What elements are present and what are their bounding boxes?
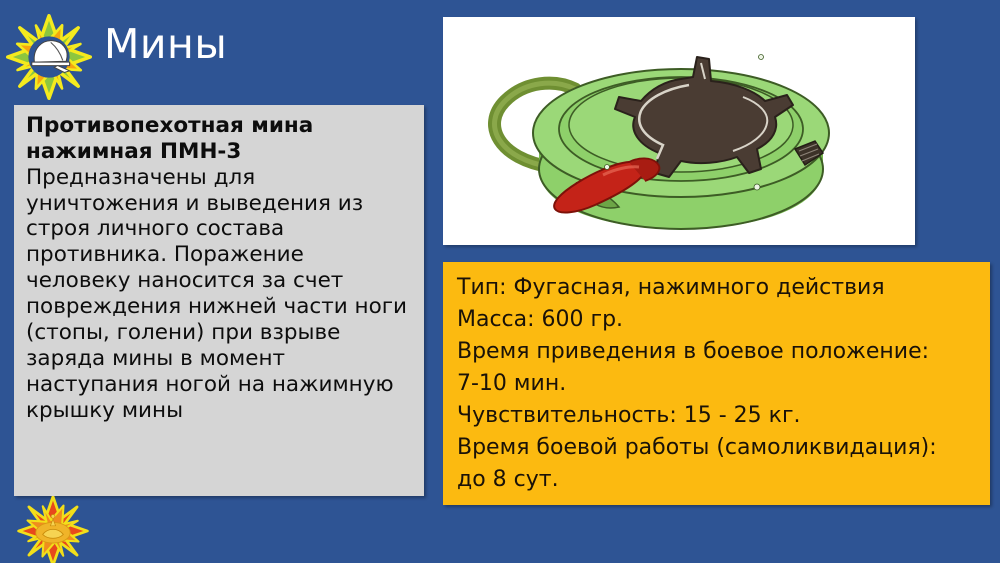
mine-pmn-3-illustration <box>443 17 915 245</box>
spec-line: Время приведения в боевое положение: <box>457 336 978 368</box>
slide-root: Мины Противопехотная мина нажимная ПМН-3… <box>0 0 1000 563</box>
description-panel: Противопехотная мина нажимная ПМН-3 Пред… <box>14 105 424 496</box>
specs-panel: Тип: Фугасная, нажимного действия Масса:… <box>443 262 990 505</box>
page-title: Мины <box>104 22 227 67</box>
spec-line: до 8 сут. <box>457 464 978 496</box>
ministry-emergency-star-helmet-emblem <box>6 14 92 100</box>
spec-line: Чувствительность: 15 - 25 кг. <box>457 400 978 432</box>
description-heading-line1: Противопехотная мина <box>26 113 414 139</box>
spec-line: Тип: Фугасная, нажимного действия <box>457 272 978 304</box>
ministry-emergency-star-coat-of-arms-emblem <box>10 496 96 563</box>
description-heading-line2: нажимная ПМН-3 <box>26 139 414 165</box>
spec-line: Масса: 600 гр. <box>457 304 978 336</box>
spec-line: Время боевой работы (самоликвидация): <box>457 432 978 464</box>
description-body: Предназначены для уничтожения и выведени… <box>26 165 414 424</box>
spec-line: 7-10 мин. <box>457 368 978 400</box>
